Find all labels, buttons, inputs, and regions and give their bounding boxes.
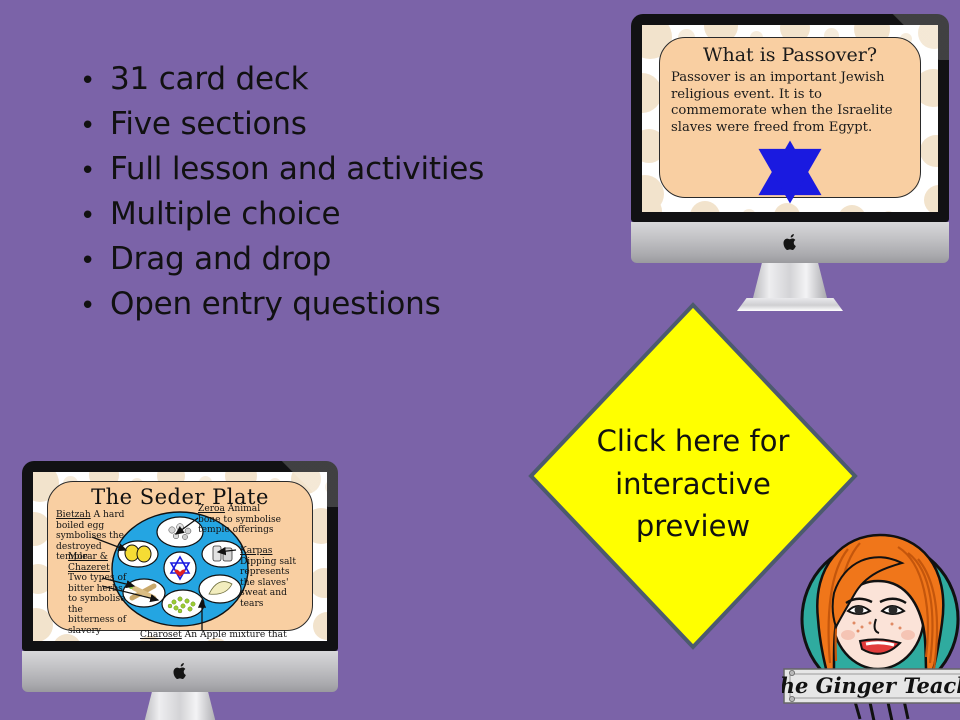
monitor-bezel: The Seder Plate (22, 461, 338, 651)
seder-label-karpas: Karpas Dipping salt represents the slave… (240, 546, 304, 609)
feature-text: Five sections (110, 107, 534, 141)
seder-term: Morar & Chazeret (68, 552, 110, 573)
feature-list: • 31 card deck • Five sections • Full le… (64, 62, 534, 333)
star-of-david-icon (660, 139, 920, 209)
seder-label-charoset: Charoset An Apple mixture that symbolise… (140, 630, 304, 641)
monitor-stand-neck (753, 263, 827, 298)
list-item: • Open entry questions (64, 287, 534, 321)
feature-text: Full lesson and activities (110, 152, 534, 186)
list-item: • Five sections (64, 107, 534, 141)
apple-logo-icon (173, 663, 188, 680)
logo-banner-text: The Ginger Teacher (782, 673, 960, 698)
monitor-chin (22, 651, 338, 692)
seder-term: Charoset (140, 630, 182, 640)
brand-logo[interactable]: The Ginger Teacher (782, 523, 960, 720)
seder-label-morar-chazeret: Morar & Chazeret Two types of bitter her… (68, 552, 130, 636)
monitor-screen: The Seder Plate (33, 472, 327, 641)
list-item: • Drag and drop (64, 242, 534, 276)
bullet-glyph: • (64, 293, 110, 319)
list-item: • Multiple choice (64, 197, 534, 231)
slide-card: What is Passover? Passover is an importa… (659, 37, 921, 198)
monitor-chin (631, 222, 949, 263)
monitor-screen: What is Passover? Passover is an importa… (642, 25, 938, 212)
slide-body: Passover is an important Jewish religiou… (660, 70, 920, 137)
slide-canvas: • 31 card deck • Five sections • Full le… (0, 0, 960, 720)
seder-label-zeroa: Zeroa Animal bone to symbolise temple of… (198, 504, 284, 536)
bullet-glyph: • (64, 113, 110, 139)
monitor-passover: What is Passover? Passover is an importa… (631, 14, 949, 311)
list-item: • 31 card deck (64, 62, 534, 96)
slide-title: What is Passover? (660, 44, 920, 66)
seder-term: Karpas (240, 546, 272, 556)
feature-text: Multiple choice (110, 197, 534, 231)
feature-text: 31 card deck (110, 62, 534, 96)
monitor-stand-neck (143, 692, 217, 720)
seder-term: Bietzah (56, 510, 91, 520)
seder-desc: Dipping salt represents the slaves' swea… (240, 557, 296, 609)
seder-desc: Two types of bitter herbs to symbolise t… (68, 573, 126, 636)
bullet-glyph: • (64, 68, 110, 94)
apple-logo-icon (783, 234, 798, 251)
feature-text: Drag and drop (110, 242, 534, 276)
feature-text: Open entry questions (110, 287, 534, 321)
bullet-glyph: • (64, 158, 110, 184)
list-item: • Full lesson and activities (64, 152, 534, 186)
seder-term: Zeroa (198, 504, 225, 514)
monitor-bezel: What is Passover? Passover is an importa… (631, 14, 949, 222)
bullet-glyph: • (64, 203, 110, 229)
monitor-seder-plate: The Seder Plate (22, 461, 338, 720)
bullet-glyph: • (64, 248, 110, 274)
slide-card: The Seder Plate (47, 481, 313, 631)
